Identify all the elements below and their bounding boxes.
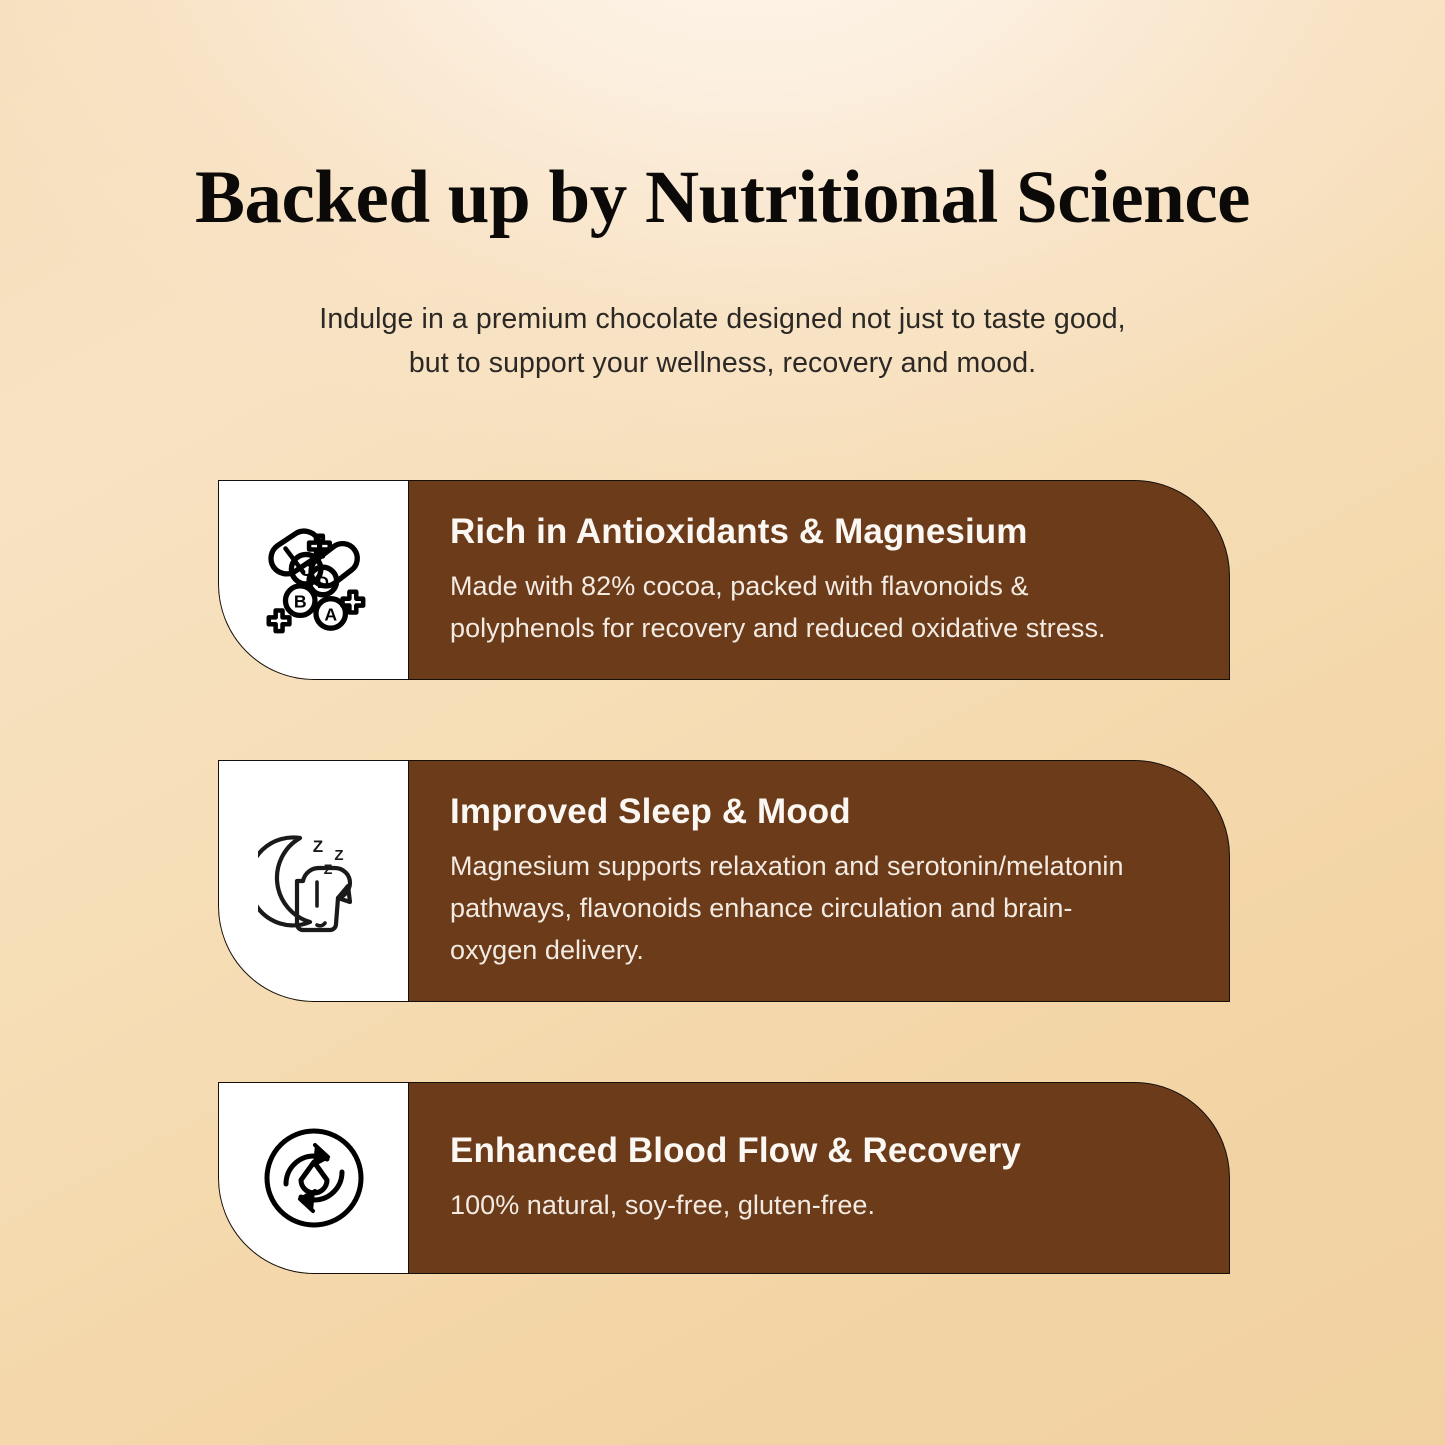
svg-text:Z: Z	[312, 837, 322, 856]
card-title: Improved Sleep & Mood	[450, 791, 1159, 832]
card-description: Made with 82% cocoa, packed with flavono…	[450, 565, 1159, 649]
subtitle-line-1: Indulge in a premium chocolate designed …	[0, 297, 1445, 341]
header: Backed up by Nutritional Science Indulge…	[0, 160, 1445, 385]
icon-panel: C D B A	[219, 481, 409, 679]
sleeping-moon-icon: Z Z Z	[258, 820, 370, 942]
card-text: Improved Sleep & Mood Magnesium supports…	[409, 761, 1229, 1001]
svg-text:Z: Z	[334, 847, 343, 864]
page-subtitle: Indulge in a premium chocolate designed …	[0, 297, 1445, 385]
card-title: Rich in Antioxidants & Magnesium	[450, 511, 1159, 552]
card-description: Magnesium supports relaxation and seroto…	[450, 845, 1159, 971]
card-text: Enhanced Blood Flow & Recovery 100% natu…	[409, 1083, 1229, 1273]
benefit-card-list: C D B A	[218, 480, 1230, 1274]
benefit-card-sleep-mood[interactable]: Z Z Z Improved Sleep & Mood Magnesium su…	[218, 760, 1230, 1002]
svg-text:Z: Z	[323, 861, 332, 877]
svg-text:A: A	[324, 604, 337, 624]
icon-panel: Z Z Z	[219, 761, 409, 1001]
svg-text:B: B	[293, 592, 306, 612]
svg-text:D: D	[316, 573, 328, 592]
card-text: Rich in Antioxidants & Magnesium Made wi…	[409, 481, 1229, 679]
page-title: Backed up by Nutritional Science	[0, 160, 1445, 235]
vitamin-pills-icon: C D B A	[255, 521, 373, 639]
benefit-card-antioxidants[interactable]: C D B A	[218, 480, 1230, 680]
card-description: 100% natural, soy-free, gluten-free.	[450, 1184, 1159, 1226]
nutritional-science-panel: Backed up by Nutritional Science Indulge…	[0, 0, 1445, 1445]
blood-flow-recovery-icon	[258, 1122, 370, 1234]
icon-panel	[219, 1083, 409, 1273]
subtitle-line-2: but to support your wellness, recovery a…	[0, 341, 1445, 385]
card-title: Enhanced Blood Flow & Recovery	[450, 1130, 1159, 1171]
benefit-card-blood-flow[interactable]: Enhanced Blood Flow & Recovery 100% natu…	[218, 1082, 1230, 1274]
